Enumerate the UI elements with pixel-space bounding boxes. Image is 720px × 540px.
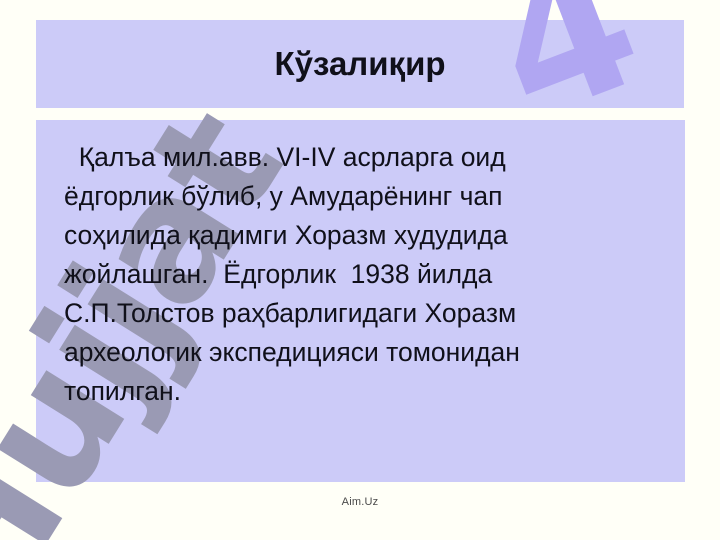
- body-line: ёдгорлик бўлиб, у Амударёнинг чап: [64, 177, 663, 216]
- body-line: жойлашган. Ёдгорлик 1938 йилда: [64, 255, 663, 294]
- footer-credit: Aim.Uz: [0, 496, 720, 508]
- page-title: Кўзалиқир: [36, 46, 684, 82]
- body-line: Қалъа мил.авв. VI-IV асрларга оид: [64, 138, 663, 177]
- title-panel: 4 Кўзалиқир: [36, 20, 684, 108]
- body-line: археологик экспедицияси томонидан: [64, 333, 663, 372]
- title-panel-inner: Кўзалиқир: [36, 46, 684, 82]
- body-panel: Hujjat 4 Қалъа мил.авв. VI-IV асрларга о…: [36, 120, 685, 482]
- body-line: соҳилида қадимги Хоразм худудида: [64, 216, 663, 255]
- body-text: Қалъа мил.авв. VI-IV асрларга оид ёдгорл…: [36, 120, 685, 411]
- presentation-slide: 4 Hujjat 4 Кўзалиқир Hujjat 4 Қалъа мил.…: [0, 0, 720, 540]
- body-line: топилган.: [64, 372, 663, 411]
- body-line: С.П.Толстов раҳбарлигидаги Хоразм: [64, 294, 663, 333]
